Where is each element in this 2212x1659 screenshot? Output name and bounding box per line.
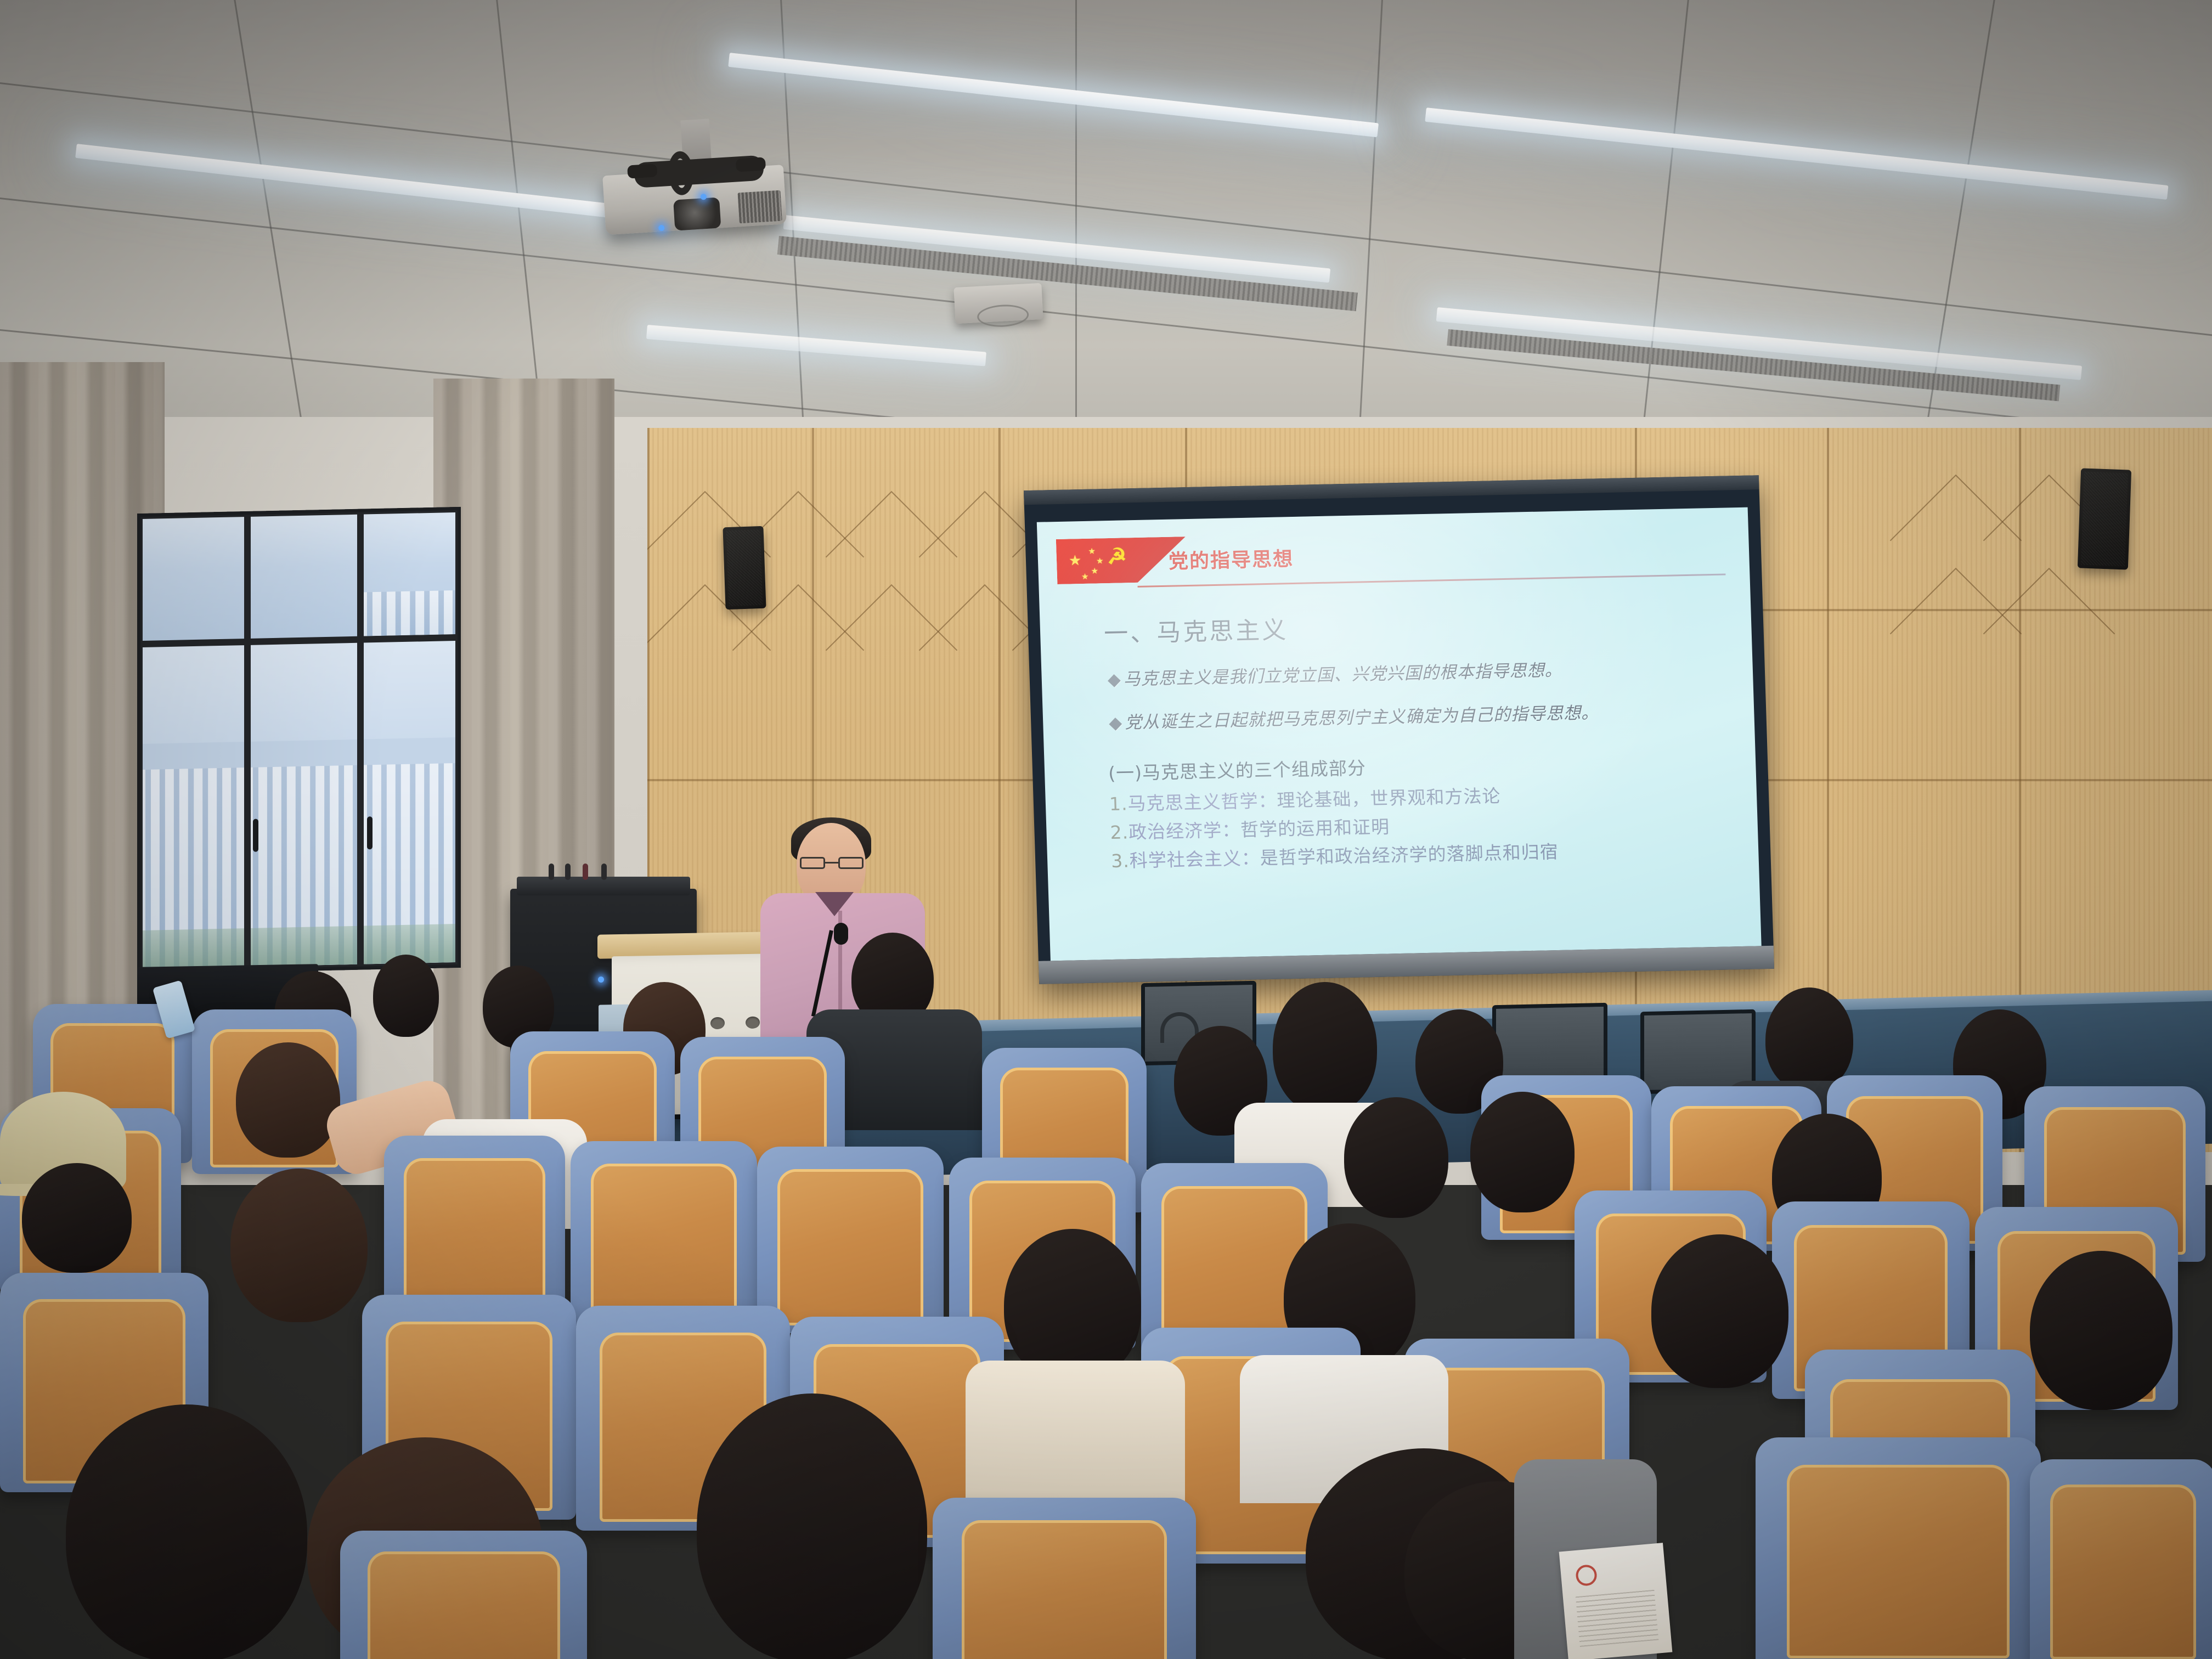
bullet-marker-icon: ◆ [1109, 713, 1123, 733]
bullet-text: 党从诞生之日起就把马克思列宁主义确定为自己的指导思想。 [1125, 703, 1599, 732]
lecture-hall-photo: ★ ★ ★ ★ ★ ☭ 党的指导思想 一、马克思主义 ◆马克思主义是我们立党立国… [0, 0, 2212, 1659]
bullet-text: 马克思主义是我们立党立国、兴党兴国的根本指导思想。 [1123, 661, 1562, 690]
item-term: 政治经济学： [1128, 819, 1241, 843]
audience-head [22, 1163, 132, 1273]
ceiling-projector [601, 143, 793, 236]
wall-speaker [723, 526, 766, 610]
audience-head [1273, 982, 1377, 1114]
presentation-slide: ★ ★ ★ ★ ★ ☭ 党的指导思想 一、马克思主义 ◆马克思主义是我们立党立国… [1037, 507, 1762, 961]
lapel-microphone-icon [834, 923, 848, 945]
stage-chair [1640, 1009, 1756, 1094]
projection-screen: ★ ★ ★ ★ ★ ☭ 党的指导思想 一、马克思主义 ◆马克思主义是我们立党立国… [1024, 475, 1774, 984]
slide-body: 一、马克思主义 ◆马克思主义是我们立党立国、兴党兴国的根本指导思想。 ◆党从诞生… [1056, 574, 1740, 874]
slide-bullet: ◆党从诞生之日起就把马克思列宁主义确定为自己的指导思想。 [1109, 696, 1726, 734]
audience-head [230, 1169, 368, 1322]
smoke-detector-icon [953, 283, 1043, 324]
projector-foot [627, 163, 657, 178]
auditorium-seat [571, 1141, 757, 1328]
wall-speaker [2078, 468, 2131, 569]
window [137, 507, 461, 974]
audience-head [697, 1393, 927, 1659]
audience-head [373, 955, 439, 1037]
projector-foot [736, 157, 766, 172]
item-number: 3. [1111, 850, 1130, 872]
window-pane [251, 515, 357, 639]
item-number: 2. [1110, 821, 1129, 843]
bullet-marker-icon: ◆ [1107, 670, 1121, 690]
audience-head [2030, 1251, 2172, 1410]
projector-lens [673, 198, 721, 231]
slide-banner-title: 党的指导思想 [1168, 543, 1294, 574]
auditorium-seat [2030, 1459, 2212, 1659]
window-pane [251, 643, 357, 967]
item-term: 科学社会主义： [1129, 847, 1260, 871]
audience-head [66, 1404, 307, 1659]
audience-head [1765, 988, 1853, 1092]
item-term: 马克思主义哲学： [1127, 790, 1277, 815]
auditorium-seat [384, 1136, 565, 1322]
building-view [364, 590, 455, 636]
audience-head [1004, 1229, 1141, 1383]
auditorium-seat [340, 1531, 587, 1659]
projector-power-led [658, 225, 665, 232]
item-desc: 理论基础，世界观和方法论 [1277, 785, 1501, 811]
item-desc: 是哲学和政治经济学的落脚点和归宿 [1260, 841, 1559, 868]
audience-head [236, 1042, 340, 1158]
audience-head [1651, 1234, 1788, 1388]
window-pane [143, 517, 244, 641]
glasses-icon [800, 857, 864, 869]
item-number: 1. [1109, 793, 1128, 815]
window-pane [143, 646, 244, 969]
handout-document [1559, 1543, 1673, 1659]
slide-bullet: ◆马克思主义是我们立党立国、兴党兴国的根本指导思想。 [1107, 653, 1724, 691]
av-rack-power-led [598, 977, 604, 983]
screen-surface: ★ ★ ★ ★ ★ ☭ 党的指导思想 一、马克思主义 ◆马克思主义是我们立党立国… [1037, 507, 1762, 961]
window-pane [364, 512, 455, 636]
hammer-sickle-emblem-icon: ☭ [1107, 545, 1131, 570]
item-desc: 哲学的运用和证明 [1240, 816, 1390, 840]
document-seal-icon [1575, 1564, 1598, 1587]
auditorium-seat [1756, 1437, 2041, 1659]
projector-vent [738, 190, 782, 224]
auditorium-seat [933, 1498, 1196, 1659]
auditorium-seat [757, 1147, 944, 1333]
window-pane [364, 641, 455, 964]
audience-head [1344, 1097, 1448, 1218]
slide-section-heading: 一、马克思主义 [1103, 601, 1723, 650]
audience-head [1470, 1092, 1575, 1212]
audience-shoulders [966, 1361, 1185, 1514]
